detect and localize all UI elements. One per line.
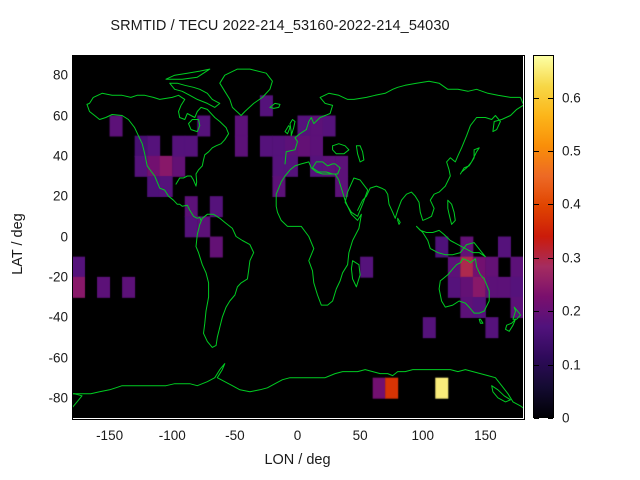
colorbar[interactable]: 00.10.20.30.40.50.6 <box>533 55 554 418</box>
coastline-path <box>72 364 523 408</box>
coastline-path <box>285 126 290 134</box>
coastline-path <box>290 120 295 136</box>
coastline-path <box>285 81 523 164</box>
colorbar-tick-mark <box>548 365 553 366</box>
y-axis-label: LAT / deg <box>10 164 26 324</box>
coastline-path <box>506 319 516 331</box>
coastline-path <box>196 214 254 347</box>
coastline-path <box>460 148 479 174</box>
coastline-path <box>189 120 200 132</box>
x-tick-label: 150 <box>450 428 520 443</box>
figure-canvas: SRMTID / TECU 2022-214_53160-2022-214_54… <box>0 0 640 480</box>
coastline-path <box>417 226 486 256</box>
colorbar-tick-label: 0.2 <box>562 304 581 319</box>
x-tick-label: -50 <box>200 428 270 443</box>
colorbar-tick-mark <box>534 311 539 312</box>
coastline-path <box>166 69 210 79</box>
colorbar-tick-label: 0.4 <box>562 197 581 212</box>
colorbar-tick-mark <box>534 258 539 259</box>
colorbar-tick-mark <box>534 418 539 419</box>
coastline-path <box>351 261 360 287</box>
coastline-path <box>448 200 456 224</box>
y-tick-label: -80 <box>6 390 68 405</box>
colorbar-tick-mark <box>548 311 553 312</box>
x-tick-label: -100 <box>137 428 207 443</box>
colorbar-tick-label: 0.5 <box>562 144 581 159</box>
colorbar-tick-mark <box>534 365 539 366</box>
coastline-path <box>358 105 523 220</box>
colorbar-tick-label: 0.1 <box>562 357 581 372</box>
colorbar-tick-label: 0.3 <box>562 250 581 265</box>
coastline-path <box>398 218 401 224</box>
colorbar-gradient <box>533 55 554 418</box>
coastline-path <box>276 162 361 305</box>
x-axis-ticks: -150-100-50050100150 <box>0 428 640 452</box>
coastline-path <box>439 259 489 313</box>
coastline-path <box>72 394 82 408</box>
colorbar-tick-mark <box>548 418 553 419</box>
coastline-path <box>479 319 483 323</box>
colorbar-tick-label: 0.6 <box>562 90 581 105</box>
y-tick-label: 40 <box>6 148 68 163</box>
x-tick-label: 50 <box>325 428 395 443</box>
coastline-path <box>345 178 368 216</box>
y-tick-label: -60 <box>6 350 68 365</box>
colorbar-tick-mark <box>534 151 539 152</box>
colorbar-tick-mark <box>548 258 553 259</box>
coastline-path <box>356 146 364 162</box>
colorbar-tick-mark <box>534 204 539 205</box>
coastline-layer <box>72 55 523 418</box>
x-tick-label: 100 <box>388 428 458 443</box>
colorbar-tick-label: 0 <box>562 411 570 426</box>
colorbar-tick-mark <box>548 98 553 99</box>
y-tick-label: 80 <box>6 68 68 83</box>
x-tick-label: 0 <box>263 428 333 443</box>
x-axis-label: LON / deg <box>72 452 523 468</box>
coastline-path <box>513 307 521 319</box>
y-tick-label: 60 <box>6 108 68 123</box>
colorbar-tick-mark <box>534 98 539 99</box>
coastline-path <box>220 69 273 115</box>
map-plot-area[interactable] <box>72 55 523 418</box>
colorbar-tick-mark <box>548 204 553 205</box>
coastline-path <box>333 144 349 154</box>
coastline-path <box>87 93 229 186</box>
page-title: SRMTID / TECU 2022-214_53160-2022-214_54… <box>0 18 560 34</box>
colorbar-tick-mark <box>548 151 553 152</box>
coastline-path <box>87 104 201 220</box>
coastline-path <box>270 103 280 108</box>
x-tick-label: -150 <box>75 428 145 443</box>
